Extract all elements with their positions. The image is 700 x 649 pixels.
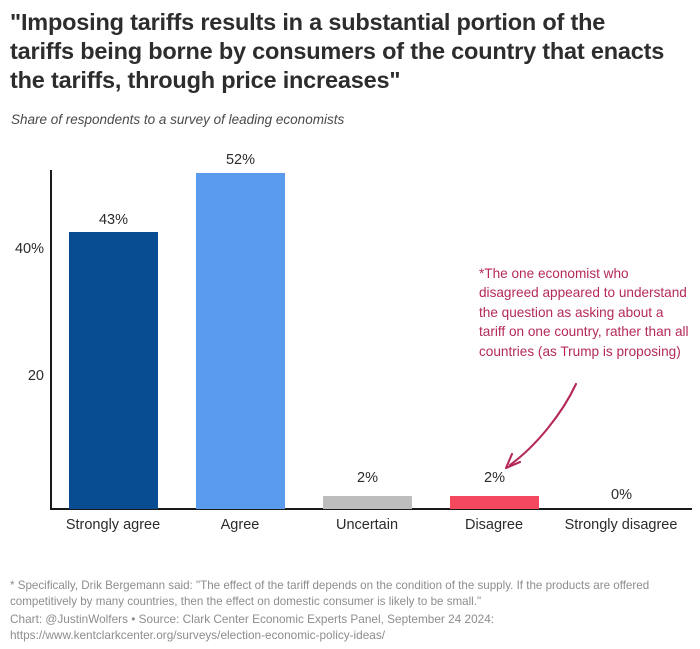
bar-chart: 40% 20 43% 52% 2% 2% 0% Strongly agree A… (0, 0, 700, 649)
y-tick-20: 20 (0, 368, 44, 386)
bar-column-uncertain (323, 169, 412, 509)
bar-strongly-agree[interactable] (69, 232, 158, 509)
bar-agree[interactable] (196, 173, 285, 509)
bar-value-strongly-agree: 43% (69, 212, 158, 228)
x-tick-strongly-agree: Strongly agree (47, 516, 179, 535)
x-tick-disagree: Disagree (428, 516, 560, 535)
y-axis-spine (50, 170, 52, 509)
bar-value-agree: 52% (196, 152, 285, 168)
bar-value-uncertain: 2% (323, 470, 412, 486)
bar-uncertain[interactable] (323, 496, 412, 509)
bar-column-agree (196, 169, 285, 509)
footnote-asterisk-note: * Specifically, Drik Bergemann said: "Th… (10, 578, 692, 610)
y-tick-label: 20 (4, 368, 44, 384)
y-tick-label: 40% (4, 241, 44, 257)
x-tick-uncertain: Uncertain (301, 516, 433, 535)
bar-value-strongly-disagree: 0% (577, 487, 666, 503)
x-tick-agree: Agree (174, 516, 306, 535)
bar-value-disagree: 2% (450, 470, 539, 486)
footnote-credit: Chart: @JustinWolfers • Source: Clark Ce… (10, 611, 692, 643)
x-tick-strongly-disagree: Strongly disagree (555, 516, 687, 535)
bar-disagree[interactable] (450, 496, 539, 509)
y-tick-40: 40% (0, 241, 44, 259)
chart-annotation: *The one economist who disagreed appeare… (479, 264, 691, 361)
